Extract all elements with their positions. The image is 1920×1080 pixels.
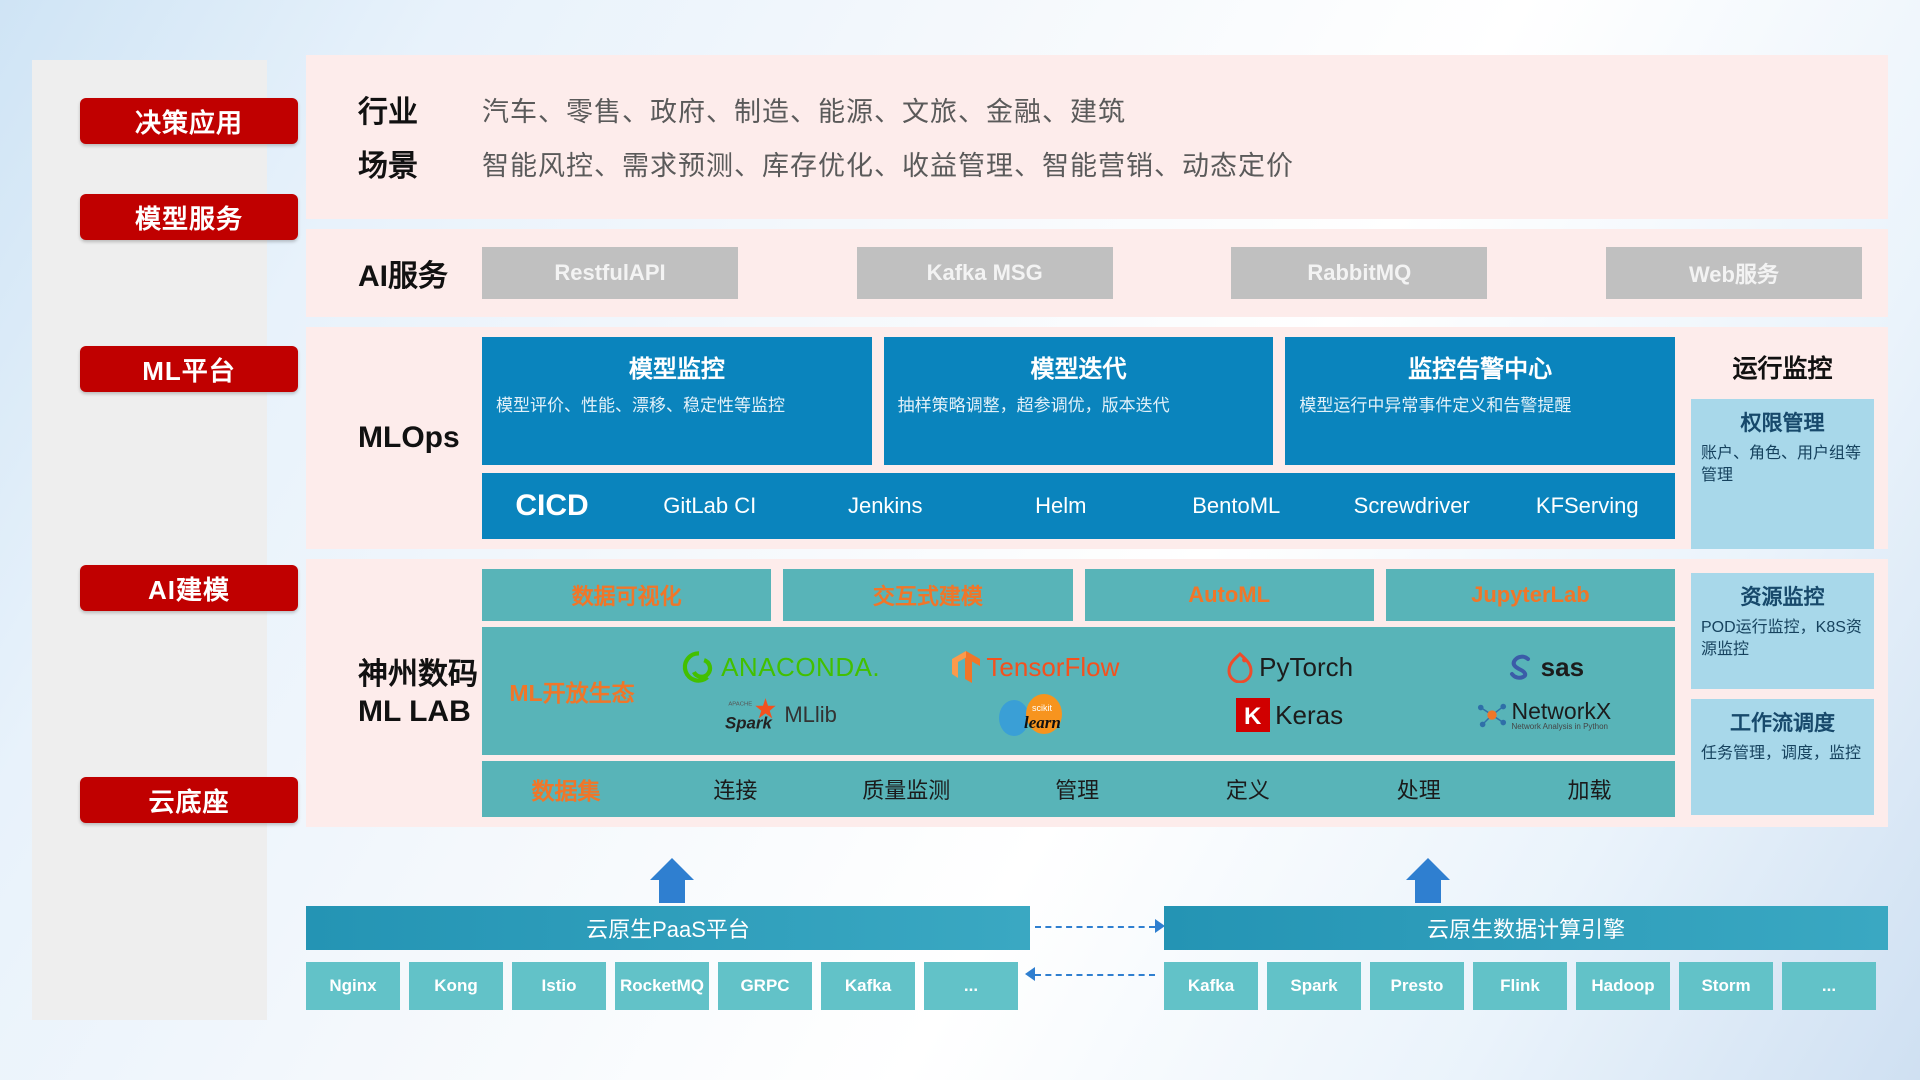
logo-keras: K Keras xyxy=(1236,698,1343,732)
card-title: 资源监控 xyxy=(1701,581,1864,611)
engine-chip-more[interactable]: ... xyxy=(1782,962,1876,1010)
ai-service-chip-rabbitmq[interactable]: RabbitMQ xyxy=(1231,247,1487,299)
logo-networkx: NetworkX Network Analysis in Python xyxy=(1477,700,1612,731)
dataset-item-manage[interactable]: 管理 xyxy=(992,773,1163,805)
ml-ecosystem-row: ML开放生态 ANACONDA. xyxy=(482,627,1675,755)
keras-icon: K xyxy=(1236,698,1270,732)
dataset-item-define[interactable]: 定义 xyxy=(1162,773,1333,805)
logo-label: NetworkX xyxy=(1512,700,1612,723)
engine-chip-presto[interactable]: Presto xyxy=(1370,962,1464,1010)
engine-chip-hadoop[interactable]: Hadoop xyxy=(1576,962,1670,1010)
logo-sas: sas xyxy=(1504,651,1584,683)
engine-chip-flink[interactable]: Flink xyxy=(1473,962,1567,1010)
scikit-learn-icon: scikit learn xyxy=(992,692,1078,738)
engine-chip-list: Kafka Spark Presto Flink Hadoop Storm ..… xyxy=(1164,962,1888,1010)
dataset-item-list: 连接 质量监测 管理 定义 处理 加载 xyxy=(650,773,1675,805)
paas-chip-kong[interactable]: Kong xyxy=(409,962,503,1010)
monitoring-card-workflow[interactable]: 工作流调度 任务管理，调度，监控 xyxy=(1691,699,1874,815)
cicd-item-helm[interactable]: Helm xyxy=(973,492,1149,520)
rail-chip-label: 云底座 xyxy=(148,782,229,819)
paas-title-bar[interactable]: 云原生PaaS平台 xyxy=(306,906,1030,950)
tool-chip-jupyterlab[interactable]: JupyterLab xyxy=(1386,569,1675,621)
rail-chip-ml-platform[interactable]: ML平台 xyxy=(80,346,298,392)
sas-icon xyxy=(1504,651,1536,683)
mlops-label: MLOps xyxy=(332,337,482,539)
paas-title: 云原生PaaS平台 xyxy=(586,912,750,944)
rail-chip-label: AI建模 xyxy=(148,570,230,607)
ml-ecosystem-label: ML开放生态 xyxy=(488,674,656,708)
ml-tool-row: 数据可视化 交互式建模 AutoML JupyterLab xyxy=(482,569,1675,621)
chip-label: RabbitMQ xyxy=(1307,260,1411,286)
logo-spark-mllib: APACHE Spark MLlib xyxy=(725,695,837,735)
chip-label: Kafka MSG xyxy=(927,260,1043,286)
card-desc: 模型评价、性能、漂移、稳定性等监控 xyxy=(496,394,858,419)
paas-chip-rocketmq[interactable]: RocketMQ xyxy=(615,962,709,1010)
svg-text:K: K xyxy=(1244,703,1262,730)
chip-label: Web服务 xyxy=(1689,257,1779,289)
cicd-item-jenkins[interactable]: Jenkins xyxy=(798,492,974,520)
paas-group: 云原生PaaS平台 Nginx Kong Istio RocketMQ GRPC… xyxy=(306,906,1030,1010)
mlops-card-list: 模型监控 模型评价、性能、漂移、稳定性等监控 模型迭代 抽样策略调整，超参调优，… xyxy=(482,337,1675,465)
dataset-item-process[interactable]: 处理 xyxy=(1333,773,1504,805)
engine-chip-storm[interactable]: Storm xyxy=(1679,962,1773,1010)
ml-ecosystem-logo-grid: ANACONDA. TensorFlow xyxy=(656,644,1669,738)
networkx-icon xyxy=(1477,700,1507,730)
mlops-stack: 模型监控 模型评价、性能、漂移、稳定性等监控 模型迭代 抽样策略调整，超参调优，… xyxy=(482,337,1683,539)
dataset-item-load[interactable]: 加载 xyxy=(1504,773,1675,805)
rail-chip-label: 模型服务 xyxy=(135,199,243,236)
dataset-item-quality[interactable]: 质量监测 xyxy=(821,773,992,805)
decision-apps-band: 行业 汽车、零售、政府、制造、能源、文旅、金融、建筑 场景 智能风控、需求预测、… xyxy=(306,55,1888,219)
ml-lab-label-line1: 神州数码 xyxy=(358,656,478,694)
logo-pytorch: PyTorch xyxy=(1226,651,1353,683)
dataset-item-connect[interactable]: 连接 xyxy=(650,773,821,805)
dashed-connector-bottom xyxy=(1035,974,1155,976)
paas-chip-kafka[interactable]: Kafka xyxy=(821,962,915,1010)
card-desc: POD运行监控，K8S资源监控 xyxy=(1701,617,1864,662)
ai-service-band: AI服务 RestfulAPI Kafka MSG RabbitMQ Web服务 xyxy=(306,229,1888,317)
engine-title: 云原生数据计算引擎 xyxy=(1427,912,1625,944)
cicd-item-gitlab-ci[interactable]: GitLab CI xyxy=(622,492,798,520)
tensorflow-icon xyxy=(951,649,981,685)
rail-chip-cloud-base[interactable]: 云底座 xyxy=(80,777,298,823)
card-desc: 模型运行中异常事件定义和告警提醒 xyxy=(1299,394,1661,419)
spark-icon: APACHE Spark xyxy=(725,695,779,735)
cicd-item-screwdriver[interactable]: Screwdriver xyxy=(1324,492,1500,520)
engine-chip-spark[interactable]: Spark xyxy=(1267,962,1361,1010)
logo-anaconda: ANACONDA. xyxy=(682,650,880,684)
logo-label: MLlib xyxy=(784,702,837,728)
logo-label: Keras xyxy=(1275,700,1343,731)
monitoring-card-permissions[interactable]: 权限管理 账户、角色、用户组等管理 xyxy=(1691,399,1874,549)
tool-chip-data-visualization[interactable]: 数据可视化 xyxy=(482,569,771,621)
data-engine-group: 云原生数据计算引擎 Kafka Spark Presto Flink Hadoo… xyxy=(1164,906,1888,1010)
ml-lab-content: 神州数码 ML LAB 数据可视化 交互式建模 AutoML JupyterLa… xyxy=(306,559,1683,827)
ai-service-chip-list: RestfulAPI Kafka MSG RabbitMQ Web服务 xyxy=(482,247,1862,299)
cicd-bar: CICD GitLab CI Jenkins Helm BentoML Scre… xyxy=(482,473,1675,539)
logo-label: TensorFlow xyxy=(986,652,1119,683)
ml-lab-label-line2: ML LAB xyxy=(358,693,478,731)
ai-modeling-band: 神州数码 ML LAB 数据可视化 交互式建模 AutoML JupyterLa… xyxy=(306,559,1888,827)
engine-title-bar[interactable]: 云原生数据计算引擎 xyxy=(1164,906,1888,950)
logo-label: ANACONDA. xyxy=(721,652,880,683)
dashed-connector-top xyxy=(1035,926,1155,928)
architecture-main-column: 行业 汽车、零售、政府、制造、能源、文旅、金融、建筑 场景 智能风控、需求预测、… xyxy=(306,55,1888,837)
svg-text:learn: learn xyxy=(1024,713,1061,732)
scenario-value: 智能风控、需求预测、库存优化、收益管理、智能营销、动态定价 xyxy=(482,144,1294,183)
monitoring-card-resources[interactable]: 资源监控 POD运行监控，K8S资源监控 xyxy=(1691,573,1874,689)
card-desc: 抽样策略调整，超参调优，版本迭代 xyxy=(898,394,1260,419)
paas-chip-grpc[interactable]: GRPC xyxy=(718,962,812,1010)
anaconda-icon xyxy=(682,650,716,684)
mlops-card-model-monitoring[interactable]: 模型监控 模型评价、性能、漂移、稳定性等监控 xyxy=(482,337,872,465)
rail-chip-ai-modeling[interactable]: AI建模 xyxy=(80,565,298,611)
layer-label-rail: 决策应用 模型服务 ML平台 AI建模 云底座 xyxy=(32,60,267,1020)
rail-chip-model-service[interactable]: 模型服务 xyxy=(80,194,298,240)
tool-chip-automl[interactable]: AutoML xyxy=(1085,569,1374,621)
cicd-item-kfserving[interactable]: KFServing xyxy=(1500,492,1676,520)
cicd-title: CICD xyxy=(482,489,622,523)
ai-service-label: AI服务 xyxy=(332,251,482,295)
card-desc: 账户、角色、用户组等管理 xyxy=(1701,443,1864,488)
industry-row: 行业 汽车、零售、政府、制造、能源、文旅、金融、建筑 xyxy=(332,87,1862,131)
logo-tensorflow: TensorFlow xyxy=(951,649,1119,685)
card-title: 监控告警中心 xyxy=(1299,349,1661,384)
cicd-item-list: GitLab CI Jenkins Helm BentoML Screwdriv… xyxy=(622,492,1675,520)
ai-service-chip-restfulapi[interactable]: RestfulAPI xyxy=(482,247,738,299)
diagram-canvas: 决策应用 模型服务 ML平台 AI建模 云底座 行业 汽车、零售、政府、制造、能… xyxy=(0,0,1920,1080)
paas-chip-nginx[interactable]: Nginx xyxy=(306,962,400,1010)
monitoring-column-lower: 资源监控 POD运行监控，K8S资源监控 工作流调度 任务管理，调度，监控 xyxy=(1683,559,1888,827)
svg-text:APACHE: APACHE xyxy=(729,702,753,708)
logo-label: sas xyxy=(1541,652,1584,683)
svg-text:scikit: scikit xyxy=(1032,703,1052,713)
paas-chip-istio[interactable]: Istio xyxy=(512,962,606,1010)
ai-service-chip-kafka-msg[interactable]: Kafka MSG xyxy=(857,247,1113,299)
dataset-label: 数据集 xyxy=(482,772,650,806)
chip-label: RestfulAPI xyxy=(554,260,665,286)
dataset-row: 数据集 连接 质量监测 管理 定义 处理 加载 xyxy=(482,761,1675,817)
rail-chip-label: ML平台 xyxy=(142,351,236,388)
scenario-label: 场景 xyxy=(332,141,482,185)
mlops-band: MLOps 模型监控 模型评价、性能、漂移、稳定性等监控 模型迭代 抽样策略调整… xyxy=(306,327,1888,549)
industry-label: 行业 xyxy=(332,87,482,131)
monitoring-column-upper: 运行监控 权限管理 账户、角色、用户组等管理 xyxy=(1683,327,1888,549)
industry-value: 汽车、零售、政府、制造、能源、文旅、金融、建筑 xyxy=(482,90,1126,129)
ml-lab-label: 神州数码 ML LAB xyxy=(332,569,482,817)
tool-chip-interactive-modeling[interactable]: 交互式建模 xyxy=(783,569,1072,621)
logo-sublabel: Network Analysis in Python xyxy=(1512,723,1612,731)
ml-lab-stack: 数据可视化 交互式建模 AutoML JupyterLab ML开放生态 xyxy=(482,569,1683,817)
card-title: 工作流调度 xyxy=(1701,707,1864,737)
monitoring-title: 运行监控 xyxy=(1691,339,1874,389)
paas-chip-more[interactable]: ... xyxy=(924,962,1018,1010)
logo-scikit-learn: scikit learn xyxy=(992,692,1078,738)
rail-chip-decision-apps[interactable]: 决策应用 xyxy=(80,98,298,144)
card-title: 权限管理 xyxy=(1701,407,1864,437)
card-title: 模型监控 xyxy=(496,349,858,384)
mlops-card-model-iteration[interactable]: 模型迭代 抽样策略调整，超参调优，版本迭代 xyxy=(884,337,1274,465)
mlops-card-alert-center[interactable]: 监控告警中心 模型运行中异常事件定义和告警提醒 xyxy=(1285,337,1675,465)
card-desc: 任务管理，调度，监控 xyxy=(1701,743,1864,765)
scenario-row: 场景 智能风控、需求预测、库存优化、收益管理、智能营销、动态定价 xyxy=(332,141,1862,185)
paas-chip-list: Nginx Kong Istio RocketMQ GRPC Kafka ... xyxy=(306,962,1030,1010)
ai-service-chip-web-service[interactable]: Web服务 xyxy=(1606,247,1862,299)
engine-chip-kafka[interactable]: Kafka xyxy=(1164,962,1258,1010)
rail-chip-label: 决策应用 xyxy=(135,103,243,140)
svg-text:Spark: Spark xyxy=(725,714,773,733)
card-title: 模型迭代 xyxy=(898,349,1260,384)
logo-label: PyTorch xyxy=(1259,652,1353,683)
mlops-content: MLOps 模型监控 模型评价、性能、漂移、稳定性等监控 模型迭代 抽样策略调整… xyxy=(306,327,1683,549)
pytorch-icon xyxy=(1226,651,1254,683)
cicd-item-bentoml[interactable]: BentoML xyxy=(1149,492,1325,520)
